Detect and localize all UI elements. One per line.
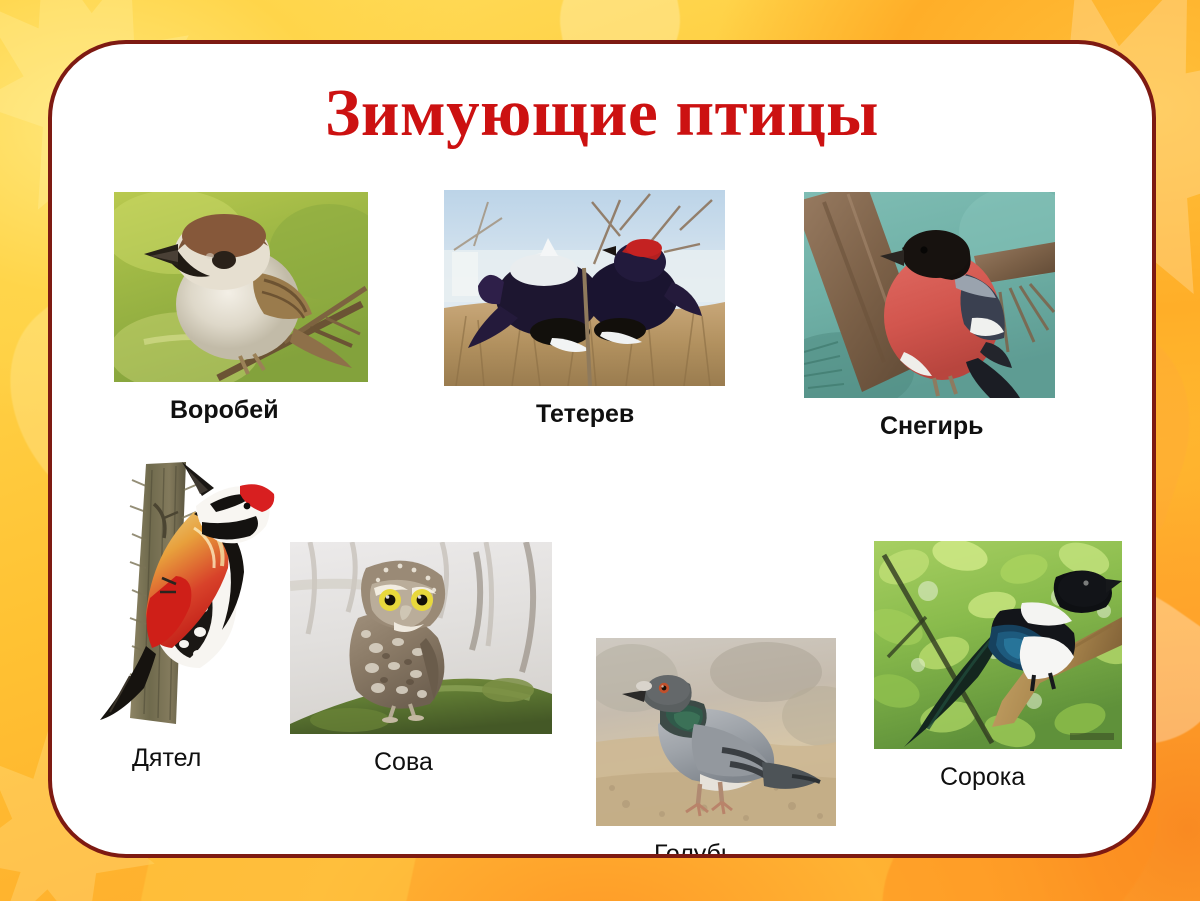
bird-label-pigeon: Голубь: [654, 842, 734, 858]
bird-cell-woodpecker: Дятел: [90, 456, 285, 736]
poster-card: Зимующие птицы: [48, 40, 1156, 858]
owl-photo: [290, 542, 552, 734]
bird-cell-magpie: Сорока: [874, 541, 1122, 749]
magpie-photo: [874, 541, 1122, 749]
bird-label-grouse: Тетерев: [536, 402, 634, 427]
winter-birds-poster: Зимующие птицы: [0, 0, 1200, 901]
bird-cell-owl: Сова: [290, 542, 552, 734]
bird-label-magpie: Сорока: [940, 765, 1025, 790]
bullfinch-photo: [804, 192, 1055, 398]
page-title: Зимующие птицы: [52, 80, 1152, 147]
bird-cell-grouse: Тетерев: [444, 190, 725, 386]
black-grouse-photo: [444, 190, 725, 386]
bird-label-owl: Сова: [374, 750, 433, 775]
bird-label-sparrow: Воробей: [170, 398, 279, 423]
woodpecker-illustration: [90, 456, 285, 736]
bird-cell-bullfinch: Снегирь: [804, 192, 1055, 398]
bird-cell-sparrow: Воробей: [114, 192, 368, 382]
sparrow-photo: [114, 192, 368, 382]
pigeon-photo: [596, 638, 836, 826]
bird-label-bullfinch: Снегирь: [880, 414, 983, 439]
bird-label-woodpecker: Дятел: [132, 746, 201, 771]
bird-cell-pigeon: Голубь: [596, 638, 836, 826]
